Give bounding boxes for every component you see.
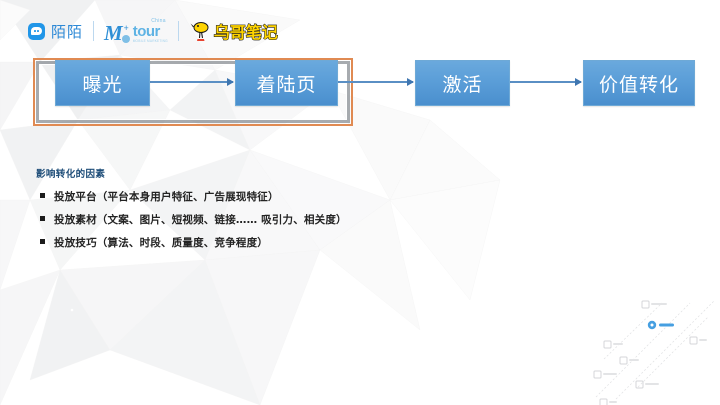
flow-node-landing-page[interactable]: 着陆页 bbox=[235, 60, 338, 106]
logo-divider-1 bbox=[93, 21, 94, 41]
flow-node-value-conversion[interactable]: 价值转化 bbox=[583, 60, 695, 106]
flow-node-activation-label: 激活 bbox=[442, 70, 482, 97]
list-item: 投放素材（文案、图片、短视频、链接…… 吸引力、相关度） bbox=[36, 212, 347, 227]
logo-wuge-label: 乌哥笔记 bbox=[214, 19, 278, 43]
flow-arrow-3 bbox=[510, 81, 581, 83]
bullet-square-icon bbox=[40, 239, 45, 244]
factors-list: 投放平台（平台本身用户特征、广告展现特征） 投放素材（文案、图片、短视频、链接…… bbox=[36, 189, 347, 250]
factors-item-0-label: 投放平台（平台本身用户特征、广告展现特征） bbox=[54, 189, 279, 204]
logo-mtour[interactable]: M + China tour MOBILE MARKETING bbox=[104, 19, 168, 43]
logo-wuge[interactable]: 乌哥笔记 bbox=[189, 19, 278, 43]
factors-block: 影响转化的因素 投放平台（平台本身用户特征、广告展现特征） 投放素材（文案、图片… bbox=[36, 166, 347, 258]
logo-mtour-dot bbox=[122, 35, 130, 43]
conversion-flow-diagram: 曝光 着陆页 激活 价值转化 bbox=[0, 60, 720, 140]
logo-momo-label: 陌陌 bbox=[51, 21, 83, 42]
flow-node-value-conversion-label: 价值转化 bbox=[599, 70, 679, 97]
header-logo-bar: 陌陌 M + China tour MOBILE MARKETING bbox=[28, 16, 278, 46]
flow-arrow-2 bbox=[338, 81, 413, 83]
flow-node-activation[interactable]: 激活 bbox=[415, 60, 510, 106]
bullet-square-icon bbox=[40, 193, 45, 198]
speech-bubble-icon bbox=[28, 23, 45, 40]
slide-canvas: 陌陌 M + China tour MOBILE MARKETING bbox=[0, 0, 720, 405]
bullet-square-icon bbox=[40, 216, 45, 221]
factors-item-1-label: 投放素材（文案、图片、短视频、链接…… 吸引力、相关度） bbox=[54, 212, 347, 227]
logo-mtour-tour: tour bbox=[133, 24, 160, 39]
list-item: 投放技巧（算法、时段、质量度、竞争程度） bbox=[36, 235, 347, 250]
list-item: 投放平台（平台本身用户特征、广告展现特征） bbox=[36, 189, 347, 204]
logo-mtour-subtitle: MOBILE MARKETING bbox=[133, 40, 168, 43]
flow-node-exposure[interactable]: 曝光 bbox=[55, 60, 150, 106]
factors-heading: 影响转化的因素 bbox=[36, 166, 347, 180]
logo-divider-2 bbox=[178, 21, 179, 41]
logo-mtour-m: M + bbox=[104, 24, 123, 43]
network-nodes-pattern bbox=[590, 295, 720, 405]
flow-arrow-1 bbox=[150, 81, 233, 83]
flow-node-landing-page-label: 着陆页 bbox=[256, 70, 316, 97]
flow-node-exposure-label: 曝光 bbox=[82, 70, 122, 97]
factors-item-2-label: 投放技巧（算法、时段、质量度、竞争程度） bbox=[54, 235, 268, 250]
network-node-highlight bbox=[648, 321, 674, 329]
logo-momo[interactable]: 陌陌 bbox=[28, 21, 83, 42]
bird-mascot-icon bbox=[189, 19, 211, 43]
